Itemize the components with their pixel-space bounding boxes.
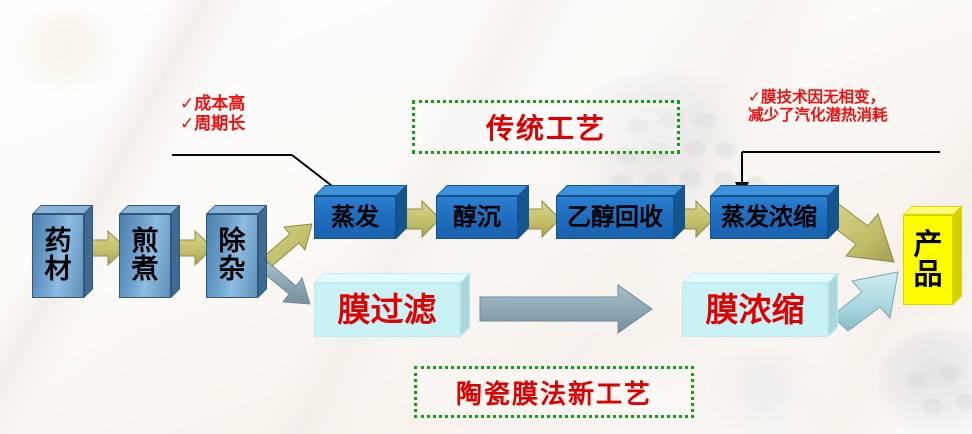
stage-label: 蒸发浓缩: [710, 196, 828, 239]
stage-label: 蒸发: [314, 196, 396, 239]
box-side-face: [84, 205, 93, 298]
arrow-branch-traditional: [262, 224, 312, 266]
stage-box-membrane-concentration: 膜浓缩: [682, 283, 828, 337]
box-side-face: [460, 273, 470, 337]
stage-label: 醇沉: [436, 196, 518, 239]
stage-box-decoction: 煎 煮: [119, 214, 171, 298]
stage-box-product: 产 品: [903, 215, 953, 305]
annotation-traditional-drawbacks: ✓成本高 ✓周期长: [180, 94, 245, 134]
box-top-face: [682, 273, 838, 283]
stage-box-impurity-removal: 除 杂: [206, 214, 258, 298]
box-top-face: [436, 185, 529, 196]
process-flow-diagram: ✓成本高 ✓周期长 ✓膜技术因无相变， 减少了汽化潜热消耗 传统工艺 陶瓷膜法新…: [0, 0, 972, 434]
stage-box-evaporation: 蒸发: [314, 196, 396, 239]
stage-box-alcohol-precipitation: 醇沉: [436, 196, 518, 239]
stage-label: 膜过滤: [314, 283, 460, 337]
box-top-face: [314, 273, 470, 283]
stage-label: 除 杂: [206, 214, 258, 298]
stage-label: 膜浓缩: [682, 283, 828, 337]
annotation-membrane-advantage: ✓膜技术因无相变， 减少了汽化潜热消耗: [748, 88, 888, 125]
arrow-filtration-to-concentration: [480, 285, 652, 333]
stage-label: 煎 煮: [119, 214, 171, 298]
box-top-face: [556, 185, 685, 196]
box-top-face: [314, 185, 407, 196]
arrow-evap-to-alcohol: [404, 201, 440, 237]
arrow-membraneconc-to-product: [832, 272, 898, 331]
stage-box-evaporative-concentration: 蒸发浓缩: [710, 196, 828, 239]
label-traditional-process: 传统工艺: [412, 100, 680, 154]
box-top-face: [710, 185, 839, 196]
arrow-branch-membrane: [261, 262, 310, 304]
stage-box-ethanol-recovery: 乙醇回收: [556, 196, 674, 239]
stage-label: 乙醇回收: [556, 196, 674, 239]
stage-label: 药 材: [32, 214, 84, 298]
label-new-ceramic-process: 陶瓷膜法新工艺: [414, 366, 694, 418]
box-side-face: [258, 205, 267, 298]
stage-box-raw-material: 药 材: [32, 214, 84, 298]
box-side-face: [953, 206, 962, 305]
stage-label: 产 品: [903, 215, 953, 305]
box-side-face: [828, 273, 838, 337]
stage-box-membrane-filtration: 膜过滤: [314, 283, 460, 337]
box-side-face: [171, 205, 180, 298]
arrow-alcohol-to-recovery: [524, 201, 560, 237]
